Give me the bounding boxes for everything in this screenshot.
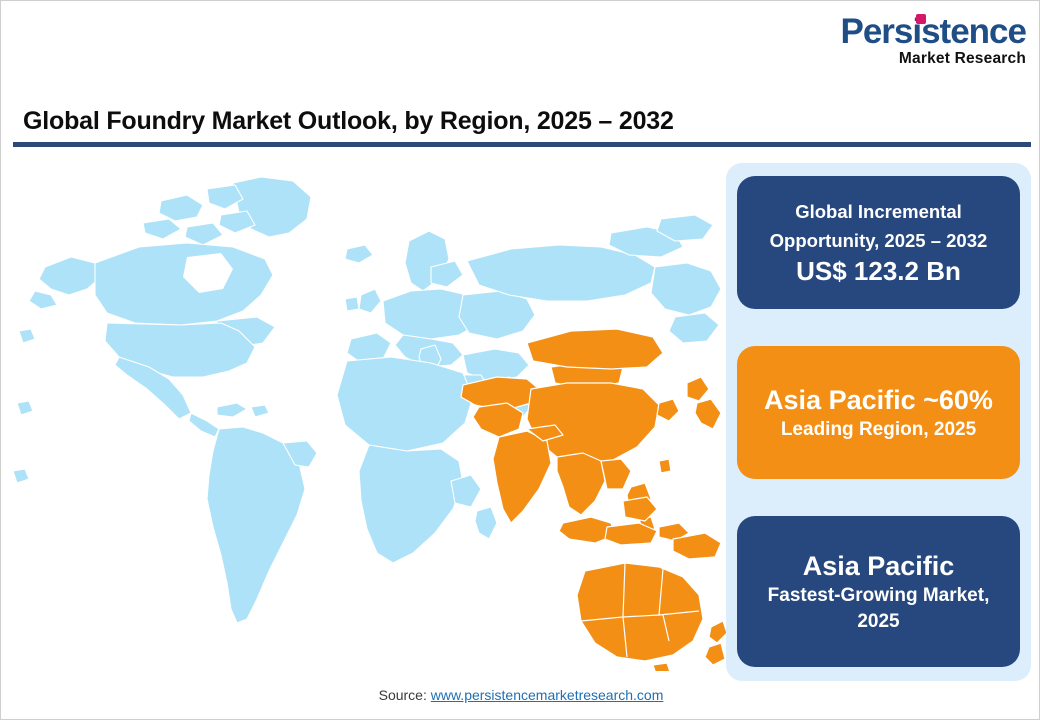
card-leading-region[interactable]: Asia Pacific ~60% Leading Region, 2025 [737,346,1020,479]
card-1-line2: Opportunity, 2025 – 2032 [770,226,988,255]
card-3-value: Asia Pacific [803,549,955,583]
page-title: Global Foundry Market Outlook, by Region… [23,107,674,136]
logo-name-text: Persistence [840,12,1026,51]
card-fastest-growing-market[interactable]: Asia Pacific Fastest-Growing Market, 202… [737,516,1020,667]
logo-accent-dot-icon [916,14,926,24]
card-2-value: Asia Pacific ~60% [764,383,993,417]
card-1-value: US$ 123.2 Bn [796,255,961,288]
title-underline-rule [13,142,1031,147]
source-line: Source: www.persistencemarketresearch.co… [1,687,1040,703]
source-url-link[interactable]: www.persistencemarketresearch.com [431,687,664,703]
infographic-page: Persistence Market Research Global Found… [0,0,1040,720]
card-3-line1: Fastest-Growing Market, [768,583,990,609]
source-label: Source: [379,687,427,703]
world-map [11,171,726,671]
logo-wordmark: Persistence [840,15,1026,49]
logo-tagline: Market Research [821,50,1026,67]
card-3-line2: 2025 [857,609,899,635]
card-global-incremental-opportunity[interactable]: Global Incremental Opportunity, 2025 – 2… [737,176,1020,309]
persistence-market-research-logo: Persistence Market Research [821,15,1026,67]
card-2-line1: Leading Region, 2025 [781,417,976,443]
card-1-line1: Global Incremental [795,197,962,226]
highlights-panel: Global Incremental Opportunity, 2025 – 2… [726,163,1031,681]
